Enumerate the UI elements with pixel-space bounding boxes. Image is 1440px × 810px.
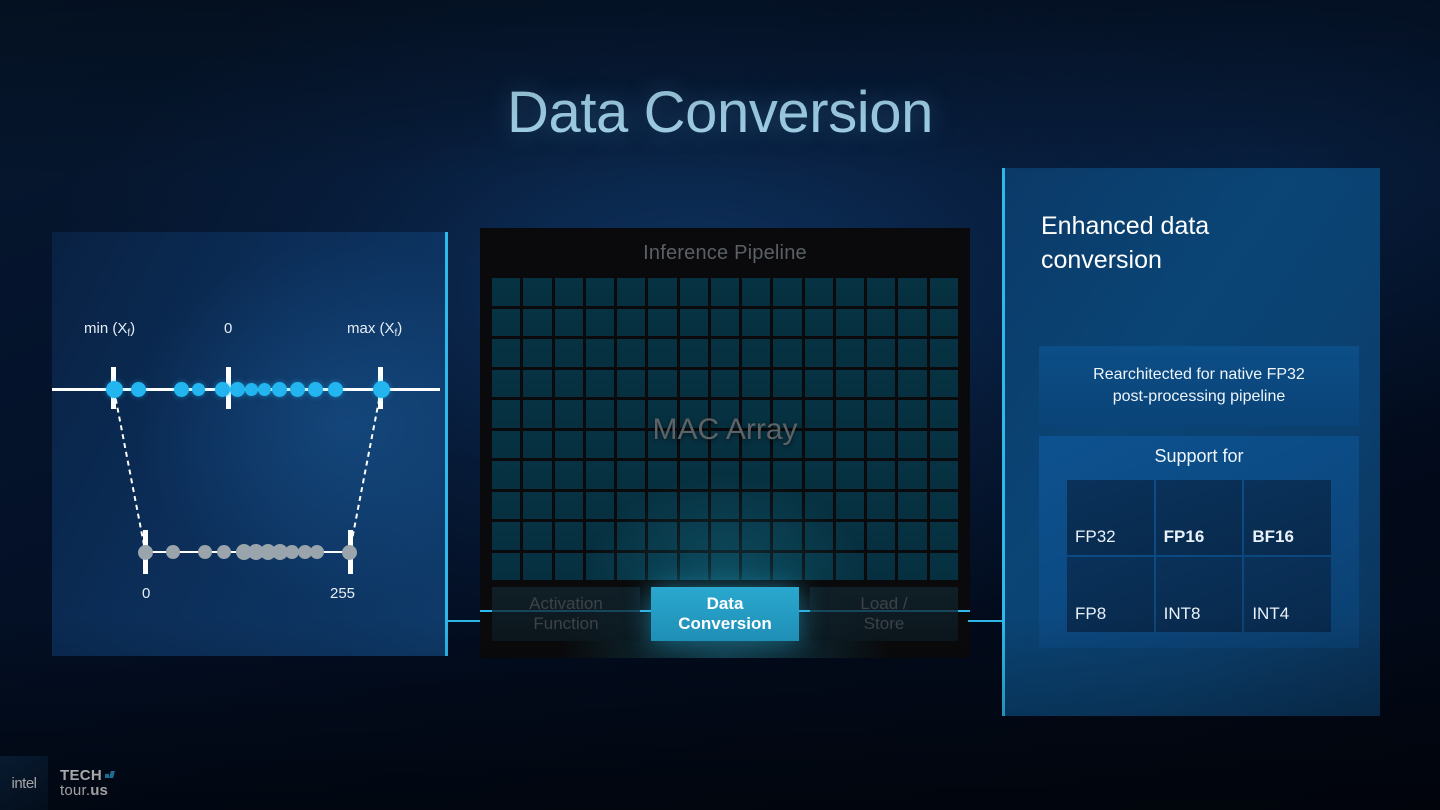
tech-tour-line1: TECH — [60, 768, 114, 783]
mac-cell — [523, 431, 551, 459]
mac-cell — [867, 492, 895, 520]
float-data-point — [373, 381, 390, 398]
mac-cell — [867, 522, 895, 550]
mac-cell — [555, 461, 583, 489]
int-data-point — [310, 545, 324, 559]
mac-cell — [586, 492, 614, 520]
float-data-point — [272, 382, 287, 397]
mac-cell — [836, 400, 864, 428]
inference-pipeline-diagram: Inference Pipeline — [480, 228, 970, 658]
quantization-chart-panel: min (Xf) 0 max (Xf) — [52, 232, 448, 656]
mac-cell — [648, 339, 676, 367]
mac-cell — [648, 522, 676, 550]
mac-cell — [555, 431, 583, 459]
mac-cell — [492, 400, 520, 428]
us-text: us — [90, 782, 108, 799]
mac-cell — [492, 278, 520, 306]
mac-cell — [586, 278, 614, 306]
mac-cell — [930, 492, 958, 520]
mac-cell — [617, 400, 645, 428]
mac-cell — [680, 278, 708, 306]
mac-cell — [898, 492, 926, 520]
mac-cell — [711, 461, 739, 489]
mac-cell — [898, 370, 926, 398]
mac-cell — [836, 431, 864, 459]
mac-cell — [586, 461, 614, 489]
mac-cell — [930, 461, 958, 489]
pipeline-title: Inference Pipeline — [480, 242, 970, 265]
mac-cell — [586, 370, 614, 398]
mac-cell — [836, 492, 864, 520]
mac-array-grid — [492, 278, 958, 580]
mac-cell — [836, 339, 864, 367]
mac-cell — [523, 461, 551, 489]
mac-cell — [523, 339, 551, 367]
mac-cell — [898, 400, 926, 428]
mac-cell — [742, 492, 770, 520]
supported-formats-box: Support for FP32 FP16 BF16 FP8 INT8 INT4 — [1039, 436, 1359, 648]
mac-cell — [805, 522, 833, 550]
mac-cell — [617, 278, 645, 306]
int-data-point — [217, 545, 231, 559]
float-data-point — [328, 382, 343, 397]
mac-cell — [617, 522, 645, 550]
mapping-dashed-lines — [52, 232, 448, 656]
mac-cell — [586, 431, 614, 459]
mac-cell — [742, 309, 770, 337]
mac-cell — [680, 309, 708, 337]
mac-cell — [836, 370, 864, 398]
mac-cell — [867, 461, 895, 489]
logo-slash-icon — [109, 771, 115, 778]
mac-cell — [867, 278, 895, 306]
mac-cell — [867, 431, 895, 459]
mac-cell — [898, 522, 926, 550]
float-data-point — [230, 382, 245, 397]
mac-cell — [930, 522, 958, 550]
mac-cell — [523, 309, 551, 337]
mac-cell — [617, 370, 645, 398]
mac-cell — [742, 370, 770, 398]
int-data-point — [166, 545, 180, 559]
mac-cell — [805, 492, 833, 520]
mac-cell — [492, 461, 520, 489]
slide-canvas: Data Conversion min (Xf) 0 max (Xf) — [0, 0, 1440, 810]
mac-cell — [930, 553, 958, 581]
mac-cell — [773, 400, 801, 428]
mac-cell — [742, 400, 770, 428]
format-cell-fp8[interactable]: FP8 — [1067, 557, 1154, 632]
mac-cell — [492, 431, 520, 459]
mac-cell — [523, 492, 551, 520]
mac-cell — [742, 278, 770, 306]
mac-cell — [773, 522, 801, 550]
mac-cell — [711, 370, 739, 398]
float-data-point — [106, 381, 123, 398]
mac-cell — [680, 492, 708, 520]
mac-cell — [617, 339, 645, 367]
mac-cell — [617, 309, 645, 337]
mac-cell — [867, 370, 895, 398]
mac-cell — [930, 370, 958, 398]
mac-cell — [492, 309, 520, 337]
stage-label: Load / Store — [860, 594, 907, 634]
mac-cell — [805, 400, 833, 428]
format-cell-fp16[interactable]: FP16 — [1156, 480, 1243, 555]
int-axis-label-min: 0 — [142, 585, 150, 602]
mac-cell — [742, 431, 770, 459]
mac-cell — [680, 339, 708, 367]
mac-cell — [555, 370, 583, 398]
right-panel-heading: Enhanced data conversion — [1041, 210, 1341, 278]
format-cell-int4[interactable]: INT4 — [1244, 557, 1331, 632]
mac-cell — [898, 431, 926, 459]
mac-cell — [586, 522, 614, 550]
float-data-point — [215, 382, 230, 397]
mac-cell — [648, 400, 676, 428]
mac-cell — [711, 522, 739, 550]
mac-cell — [586, 339, 614, 367]
connector-left — [448, 620, 482, 622]
mac-cell — [805, 370, 833, 398]
mac-cell — [711, 400, 739, 428]
mac-cell — [680, 461, 708, 489]
mac-cell — [898, 309, 926, 337]
format-cell-fp32[interactable]: FP32 — [1067, 480, 1154, 555]
footer-logo: intel TECH tour.us — [0, 756, 160, 810]
mac-cell — [773, 431, 801, 459]
stage-label-line2: Conversion — [678, 614, 772, 633]
int-data-point — [285, 545, 299, 559]
mac-cell — [930, 339, 958, 367]
mac-cell — [773, 461, 801, 489]
tour-text: tour. — [60, 782, 90, 799]
page-title: Data Conversion — [0, 79, 1440, 146]
mac-cell — [711, 553, 739, 581]
mac-cell — [492, 339, 520, 367]
float-data-point — [245, 383, 258, 396]
float-data-point — [308, 382, 323, 397]
callout-line2: post-processing pipeline — [1113, 388, 1286, 405]
mac-cell — [930, 278, 958, 306]
mac-cell — [867, 339, 895, 367]
mac-cell — [930, 309, 958, 337]
mac-cell — [836, 522, 864, 550]
mac-cell — [492, 522, 520, 550]
mac-cell — [523, 522, 551, 550]
int-data-point — [342, 545, 357, 560]
stage-label-line1: Load / — [860, 594, 907, 613]
mac-cell — [523, 278, 551, 306]
int-data-point — [138, 545, 153, 560]
mac-cell — [523, 553, 551, 581]
mac-cell — [773, 339, 801, 367]
stage-label-line2: Function — [533, 614, 598, 633]
supported-formats-grid: FP32 FP16 BF16 FP8 INT8 INT4 — [1067, 480, 1331, 632]
float-data-point — [174, 382, 189, 397]
mac-cell — [867, 553, 895, 581]
mac-cell — [523, 400, 551, 428]
enhanced-data-conversion-panel: Enhanced data conversion Rearchitected f… — [1002, 168, 1380, 716]
mac-cell — [617, 461, 645, 489]
mac-cell — [617, 431, 645, 459]
mac-cell — [648, 278, 676, 306]
mac-cell — [805, 278, 833, 306]
mac-cell — [680, 400, 708, 428]
mac-cell — [711, 492, 739, 520]
mac-cell — [836, 278, 864, 306]
mac-cell — [680, 431, 708, 459]
mac-cell — [586, 309, 614, 337]
mac-cell — [773, 370, 801, 398]
format-cell-bf16[interactable]: BF16 — [1244, 480, 1331, 555]
mac-cell — [773, 492, 801, 520]
mac-cell — [555, 553, 583, 581]
stage-label-line1: Activation — [529, 594, 603, 613]
mac-cell — [773, 278, 801, 306]
mac-cell — [680, 522, 708, 550]
mac-cell — [492, 553, 520, 581]
callout-line1: Rearchitected for native FP32 — [1093, 366, 1305, 383]
heading-line2: conversion — [1041, 246, 1162, 274]
heading-line1: Enhanced data — [1041, 212, 1209, 240]
mac-cell — [898, 553, 926, 581]
connector-right — [968, 620, 1004, 622]
mac-cell — [836, 461, 864, 489]
mac-cell — [586, 553, 614, 581]
mac-cell — [742, 461, 770, 489]
stage-label-line1: Data — [707, 594, 744, 613]
mac-cell — [773, 309, 801, 337]
mac-cell — [680, 370, 708, 398]
mac-cell — [742, 339, 770, 367]
tech-tour-line2: tour.us — [60, 783, 114, 798]
mac-cell — [648, 370, 676, 398]
supported-formats-title: Support for — [1039, 446, 1359, 467]
mac-cell — [586, 400, 614, 428]
float-data-point — [192, 383, 205, 396]
pipeline-stage-row: Activation Function Data Conversion Load… — [492, 587, 958, 641]
int-axis-label-max: 255 — [330, 585, 355, 602]
tech-tour-logo: TECH tour.us — [60, 768, 114, 798]
mac-cell — [555, 522, 583, 550]
stage-label: Data Conversion — [678, 594, 772, 634]
mac-cell — [648, 461, 676, 489]
mac-cell — [555, 309, 583, 337]
fp32-callout-text: Rearchitected for native FP32 post-proce… — [1093, 364, 1305, 409]
pipeline-stage-activation-function[interactable]: Activation Function — [492, 587, 640, 641]
mac-cell — [836, 309, 864, 337]
mac-cell — [930, 400, 958, 428]
mac-cell — [617, 553, 645, 581]
mac-cell — [867, 400, 895, 428]
mac-cell — [555, 400, 583, 428]
mac-cell — [805, 431, 833, 459]
mac-cell — [742, 553, 770, 581]
mac-cell — [555, 278, 583, 306]
float-data-point — [131, 382, 146, 397]
mac-cell — [711, 339, 739, 367]
fp32-callout-box: Rearchitected for native FP32 post-proce… — [1039, 346, 1359, 426]
mac-cell — [930, 431, 958, 459]
mac-cell — [867, 309, 895, 337]
int-data-point — [198, 545, 212, 559]
format-cell-int8[interactable]: INT8 — [1156, 557, 1243, 632]
mac-cell — [805, 309, 833, 337]
mac-cell — [773, 553, 801, 581]
pipeline-stage-data-conversion[interactable]: Data Conversion — [651, 587, 799, 641]
mac-cell — [648, 492, 676, 520]
pipeline-stage-load-store[interactable]: Load / Store — [810, 587, 958, 641]
mac-cell — [555, 339, 583, 367]
mac-cell — [680, 553, 708, 581]
mac-cell — [898, 278, 926, 306]
mac-cell — [648, 553, 676, 581]
stage-label: Activation Function — [529, 594, 603, 634]
mac-cell — [648, 431, 676, 459]
mac-cell — [742, 522, 770, 550]
mac-cell — [492, 492, 520, 520]
mac-cell — [555, 492, 583, 520]
mac-cell — [805, 461, 833, 489]
mac-cell — [711, 309, 739, 337]
mac-cell — [898, 461, 926, 489]
mac-cell — [805, 553, 833, 581]
stage-label-line2: Store — [864, 614, 905, 633]
mac-cell — [648, 309, 676, 337]
mac-cell — [492, 370, 520, 398]
mac-cell — [617, 492, 645, 520]
float-data-point — [258, 383, 271, 396]
mac-cell — [711, 278, 739, 306]
mac-cell — [805, 339, 833, 367]
intel-logo: intel — [0, 756, 48, 810]
mac-cell — [711, 431, 739, 459]
mac-cell — [836, 553, 864, 581]
mac-cell — [523, 370, 551, 398]
mac-cell — [898, 339, 926, 367]
float-data-point — [290, 382, 305, 397]
